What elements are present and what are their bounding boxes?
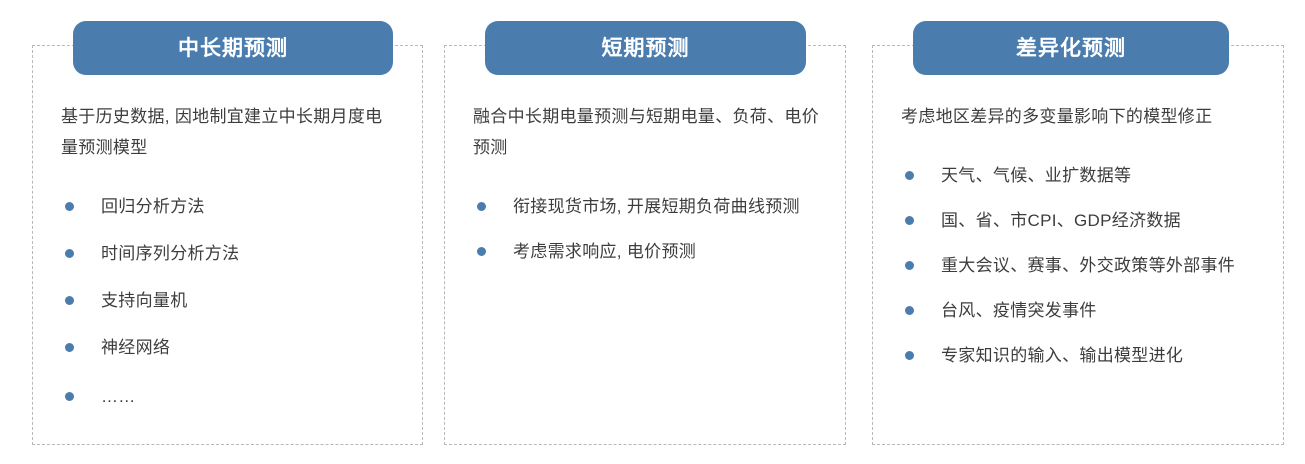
list-item: …… [61, 381, 396, 412]
bullet-dot-icon [905, 351, 914, 360]
bullet-dot-icon [905, 306, 914, 315]
bullet-dot-icon [65, 202, 74, 211]
list-item: 台风、疫情突发事件 [901, 295, 1257, 326]
panel-intro-text: 考虑地区差异的多变量影响下的模型修正 [901, 101, 1257, 132]
list-item-label: 回归分析方法 [101, 197, 205, 216]
bullet-dot-icon [65, 392, 74, 401]
panel-body: 融合中长期电量预测与短期电量、负荷、电价预测 衔接现货市场, 开展短期负荷曲线预… [445, 101, 845, 434]
list-item-label: 天气、气候、业扩数据等 [941, 166, 1131, 185]
panel-short-term-forecast: 融合中长期电量预测与短期电量、负荷、电价预测 衔接现货市场, 开展短期负荷曲线预… [444, 45, 846, 445]
list-item-label: 专家知识的输入、输出模型进化 [941, 346, 1183, 365]
panel-body: 基于历史数据, 因地制宜建立中长期月度电量预测模型 回归分析方法 时间序列分析方… [33, 101, 422, 434]
panel-intro-text: 基于历史数据, 因地制宜建立中长期月度电量预测模型 [61, 101, 396, 163]
bullet-list: 衔接现货市场, 开展短期负荷曲线预测 考虑需求响应, 电价预测 [473, 191, 819, 267]
list-item-label: 考虑需求响应, 电价预测 [513, 242, 696, 261]
bullet-dot-icon [905, 261, 914, 270]
list-item-label: 神经网络 [101, 338, 170, 357]
list-item: 神经网络 [61, 332, 396, 363]
bullet-dot-icon [65, 343, 74, 352]
list-item-label: 时间序列分析方法 [101, 244, 239, 263]
bullet-list: 回归分析方法 时间序列分析方法 支持向量机 神经网络 …… [61, 191, 396, 412]
panel-long-term-forecast: 基于历史数据, 因地制宜建立中长期月度电量预测模型 回归分析方法 时间序列分析方… [32, 45, 423, 445]
list-item: 天气、气候、业扩数据等 [901, 160, 1257, 191]
panel-header-long-term-forecast: 中长期预测 [73, 21, 393, 75]
panel-body: 考虑地区差异的多变量影响下的模型修正 天气、气候、业扩数据等 国、省、市CPI、… [873, 101, 1283, 434]
list-item-label: …… [101, 387, 136, 406]
panel-title: 差异化预测 [1016, 38, 1126, 59]
list-item: 考虑需求响应, 电价预测 [473, 236, 819, 267]
list-item: 衔接现货市场, 开展短期负荷曲线预测 [473, 191, 819, 222]
panel-intro-text: 融合中长期电量预测与短期电量、负荷、电价预测 [473, 101, 819, 163]
list-item-label: 国、省、市CPI、GDP经济数据 [941, 211, 1181, 230]
bullet-list: 天气、气候、业扩数据等 国、省、市CPI、GDP经济数据 重大会议、赛事、外交政… [901, 160, 1257, 371]
list-item: 回归分析方法 [61, 191, 396, 222]
panel-header-short-term-forecast: 短期预测 [485, 21, 806, 75]
panel-header-differentiated-forecast: 差异化预测 [913, 21, 1229, 75]
list-item: 时间序列分析方法 [61, 238, 396, 269]
panel-title: 中长期预测 [178, 38, 288, 59]
list-item: 支持向量机 [61, 285, 396, 316]
list-item-label: 衔接现货市场, 开展短期负荷曲线预测 [513, 197, 800, 216]
list-item: 国、省、市CPI、GDP经济数据 [901, 205, 1257, 236]
bullet-dot-icon [905, 216, 914, 225]
list-item-label: 支持向量机 [101, 291, 188, 310]
bullet-dot-icon [477, 247, 486, 256]
bullet-dot-icon [905, 171, 914, 180]
list-item: 专家知识的输入、输出模型进化 [901, 340, 1257, 371]
diagram-canvas: 基于历史数据, 因地制宜建立中长期月度电量预测模型 回归分析方法 时间序列分析方… [0, 0, 1305, 464]
panel-title: 短期预测 [602, 38, 690, 59]
list-item-label: 重大会议、赛事、外交政策等外部事件 [941, 256, 1235, 275]
bullet-dot-icon [477, 202, 486, 211]
bullet-dot-icon [65, 249, 74, 258]
list-item-label: 台风、疫情突发事件 [941, 301, 1097, 320]
panel-differentiated-forecast: 考虑地区差异的多变量影响下的模型修正 天气、气候、业扩数据等 国、省、市CPI、… [872, 45, 1284, 445]
list-item: 重大会议、赛事、外交政策等外部事件 [901, 250, 1257, 281]
bullet-dot-icon [65, 296, 74, 305]
